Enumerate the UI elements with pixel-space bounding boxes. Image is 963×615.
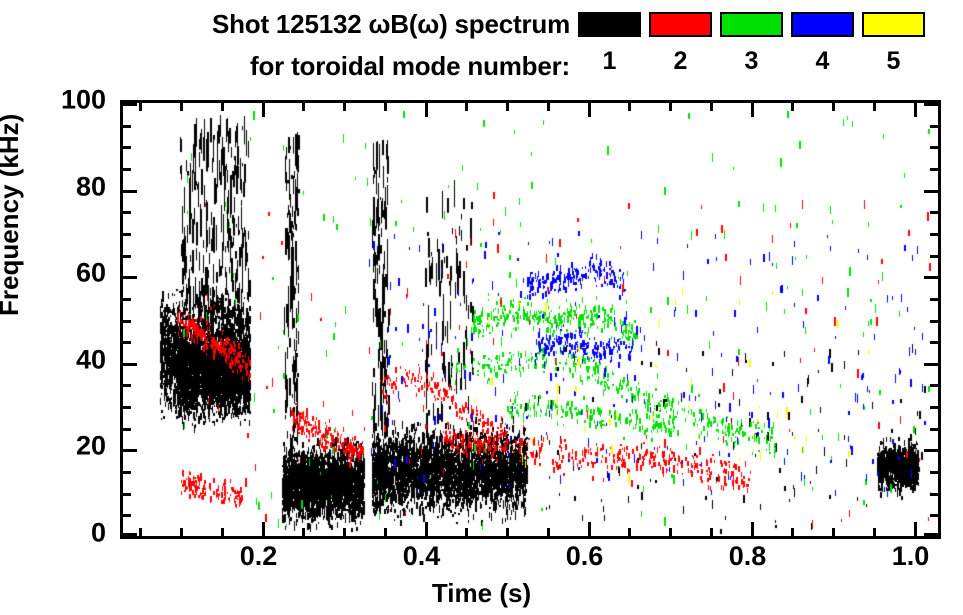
x-minor-tick bbox=[547, 528, 550, 536]
x-minor-tick-top bbox=[506, 103, 509, 111]
y-major-tick-right bbox=[924, 276, 938, 279]
x-tick-label: 0.4 bbox=[403, 541, 441, 572]
x-tick-label: 1.0 bbox=[892, 541, 930, 572]
legend-swatch-mode-5 bbox=[862, 12, 925, 37]
legend-label-mode-5: 5 bbox=[862, 41, 925, 81]
x-minor-tick-top bbox=[710, 103, 713, 111]
y-minor-tick-right bbox=[930, 168, 938, 171]
legend-entry-3: 3 bbox=[720, 12, 783, 81]
x-minor-tick-top bbox=[791, 103, 794, 111]
x-minor-tick-top bbox=[873, 103, 876, 111]
y-minor-tick bbox=[123, 255, 131, 258]
x-minor-tick-top bbox=[628, 103, 631, 111]
y-major-tick bbox=[123, 449, 137, 452]
x-minor-tick bbox=[302, 528, 305, 536]
legend-entry-4: 4 bbox=[791, 12, 854, 81]
x-minor-tick bbox=[180, 528, 183, 536]
y-major-tick bbox=[123, 103, 137, 106]
x-minor-tick bbox=[506, 528, 509, 536]
x-minor-tick-top bbox=[465, 103, 468, 111]
legend: 1 2 3 4 5 bbox=[578, 12, 925, 81]
y-major-tick bbox=[123, 190, 137, 193]
x-major-tick-top bbox=[425, 103, 428, 117]
spectrogram-figure: Shot 125132 ωB(ω) spectrum for toroidal … bbox=[0, 0, 963, 615]
x-minor-tick-top bbox=[221, 103, 224, 111]
x-minor-tick-top bbox=[832, 103, 835, 111]
y-axis-title: Frequency (kHz) bbox=[0, 114, 25, 316]
x-minor-tick bbox=[628, 528, 631, 536]
title-line-2: for toroidal mode number: bbox=[0, 46, 570, 86]
x-minor-tick-top bbox=[669, 103, 672, 111]
x-minor-tick bbox=[710, 528, 713, 536]
y-major-tick-right bbox=[924, 363, 938, 366]
x-major-tick bbox=[588, 522, 591, 536]
legend-swatch-mode-1 bbox=[578, 12, 641, 37]
x-tick-label: 0.8 bbox=[729, 541, 767, 572]
y-major-tick-right bbox=[924, 190, 938, 193]
y-minor-tick-right bbox=[930, 406, 938, 409]
y-minor-tick bbox=[123, 320, 131, 323]
legend-label-mode-1: 1 bbox=[578, 41, 641, 81]
plot-area bbox=[120, 100, 941, 539]
y-minor-tick-right bbox=[930, 255, 938, 258]
x-minor-tick-top bbox=[180, 103, 183, 111]
x-major-tick-top bbox=[588, 103, 591, 117]
y-minor-tick bbox=[123, 384, 131, 387]
x-minor-tick bbox=[221, 528, 224, 536]
legend-swatch-mode-3 bbox=[720, 12, 783, 37]
y-minor-tick bbox=[123, 146, 131, 149]
y-minor-tick-right bbox=[930, 493, 938, 496]
y-minor-tick-right bbox=[930, 341, 938, 344]
x-minor-tick bbox=[832, 528, 835, 536]
y-minor-tick bbox=[123, 211, 131, 214]
x-minor-tick bbox=[465, 528, 468, 536]
y-major-tick-right bbox=[924, 449, 938, 452]
y-minor-tick-right bbox=[930, 146, 938, 149]
spectrogram-canvas bbox=[123, 103, 938, 536]
y-minor-tick-right bbox=[930, 428, 938, 431]
x-major-tick bbox=[751, 522, 754, 536]
legend-label-mode-3: 3 bbox=[720, 41, 783, 81]
y-major-tick-right bbox=[924, 103, 938, 106]
figure-title: Shot 125132 ωB(ω) spectrum for toroidal … bbox=[0, 0, 570, 86]
x-major-tick-top bbox=[914, 103, 917, 117]
y-tick-label: 0 bbox=[0, 518, 106, 549]
y-minor-tick bbox=[123, 125, 131, 128]
x-minor-tick-top bbox=[343, 103, 346, 111]
y-minor-tick bbox=[123, 168, 131, 171]
x-minor-tick-top bbox=[139, 103, 142, 111]
x-minor-tick-top bbox=[547, 103, 550, 111]
y-major-tick bbox=[123, 276, 137, 279]
y-minor-tick bbox=[123, 233, 131, 236]
x-major-tick-top bbox=[751, 103, 754, 117]
legend-entry-2: 2 bbox=[649, 12, 712, 81]
y-minor-tick bbox=[123, 298, 131, 301]
y-minor-tick bbox=[123, 406, 131, 409]
legend-label-mode-4: 4 bbox=[791, 41, 854, 81]
legend-entry-1: 1 bbox=[578, 12, 641, 81]
x-minor-tick bbox=[343, 528, 346, 536]
x-tick-label: 0.2 bbox=[240, 541, 278, 572]
legend-entry-5: 5 bbox=[862, 12, 925, 81]
title-line-1: Shot 125132 ωB(ω) spectrum bbox=[0, 4, 570, 44]
x-minor-tick bbox=[384, 528, 387, 536]
y-minor-tick bbox=[123, 493, 131, 496]
y-minor-tick-right bbox=[930, 471, 938, 474]
x-minor-tick bbox=[873, 528, 876, 536]
y-minor-tick bbox=[123, 514, 131, 517]
legend-label-mode-2: 2 bbox=[649, 41, 712, 81]
x-minor-tick bbox=[669, 528, 672, 536]
x-minor-tick-top bbox=[302, 103, 305, 111]
legend-swatch-mode-2 bbox=[649, 12, 712, 37]
y-minor-tick bbox=[123, 341, 131, 344]
x-major-tick-top bbox=[262, 103, 265, 117]
y-minor-tick-right bbox=[930, 125, 938, 128]
y-major-tick bbox=[123, 363, 137, 366]
legend-swatch-mode-4 bbox=[791, 12, 854, 37]
y-minor-tick-right bbox=[930, 320, 938, 323]
y-minor-tick-right bbox=[930, 514, 938, 517]
x-minor-tick bbox=[139, 528, 142, 536]
y-tick-label: 20 bbox=[0, 431, 106, 462]
x-minor-tick-top bbox=[384, 103, 387, 111]
y-minor-tick-right bbox=[930, 384, 938, 387]
x-major-tick bbox=[262, 522, 265, 536]
y-major-tick bbox=[123, 533, 137, 536]
x-major-tick bbox=[425, 522, 428, 536]
y-minor-tick bbox=[123, 471, 131, 474]
x-major-tick bbox=[914, 522, 917, 536]
y-tick-label: 40 bbox=[0, 344, 106, 375]
y-minor-tick-right bbox=[930, 211, 938, 214]
y-minor-tick bbox=[123, 428, 131, 431]
y-minor-tick-right bbox=[930, 233, 938, 236]
x-tick-label: 0.6 bbox=[566, 541, 604, 572]
x-minor-tick bbox=[791, 528, 794, 536]
y-major-tick-right bbox=[924, 533, 938, 536]
y-minor-tick-right bbox=[930, 298, 938, 301]
x-axis-title: Time (s) bbox=[0, 578, 963, 609]
y-tick-label: 100 bbox=[0, 85, 106, 116]
